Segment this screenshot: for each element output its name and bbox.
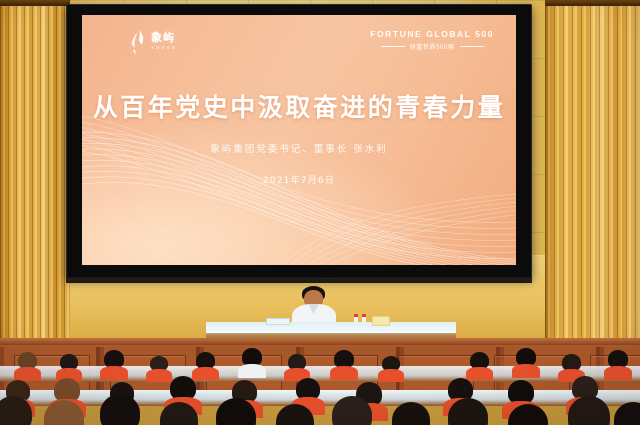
audience-member <box>104 350 124 372</box>
speaker-papers <box>266 318 290 325</box>
audience-member <box>562 354 581 375</box>
audience-desk-row <box>0 366 640 382</box>
slide-title: 从百年党史中汲取奋进的青春力量 <box>82 88 516 124</box>
fortune-badge-chinese: 财富世界500强 <box>410 42 455 51</box>
feather-bird-logo-icon <box>126 29 146 55</box>
audience-member <box>382 356 400 375</box>
audience-member <box>44 400 84 425</box>
left-curtain-rod <box>0 0 70 6</box>
audience-member <box>508 404 548 425</box>
table-cloth <box>206 322 456 333</box>
audience-member <box>392 402 430 425</box>
fortune-global-500-badge: FORTUNE GLOBAL 500 财富世界500强 <box>370 29 494 51</box>
audience-member <box>276 404 314 425</box>
right-curtain-rod <box>545 0 640 6</box>
audience-member <box>448 398 488 425</box>
audience-area <box>0 344 640 425</box>
audience-member <box>60 354 78 374</box>
audience-member <box>470 352 489 373</box>
slide-subtitle-presenter: 象屿集团党委书记、董事长 张水利 <box>82 141 516 155</box>
logo-english-name: XMXYG <box>151 46 177 50</box>
company-logo: 象屿 XMXYG <box>126 29 177 55</box>
conference-hall-photo: 象屿 XMXYG FORTUNE GLOBAL 500 财富世界500强 从百年… <box>0 0 640 425</box>
audience-member <box>296 378 320 406</box>
fortune-badge-english: FORTUNE GLOBAL 500 <box>370 29 494 39</box>
audience-member <box>568 396 610 425</box>
audience-member <box>288 354 306 374</box>
audience-member <box>18 352 37 374</box>
water-bottle <box>362 314 366 324</box>
left-stage-curtain <box>0 0 70 352</box>
audience-member <box>150 356 168 375</box>
audience-member <box>216 398 256 425</box>
slide-date: 2021年7月6日 <box>82 173 516 186</box>
audience-member <box>242 348 262 370</box>
right-stage-curtain <box>545 0 640 352</box>
audience-member <box>100 394 140 425</box>
audience-member <box>0 396 32 425</box>
audience-member <box>516 348 536 370</box>
presentation-slide: 象屿 XMXYG FORTUNE GLOBAL 500 财富世界500强 从百年… <box>82 15 516 265</box>
audience-member <box>160 402 198 425</box>
water-bottle <box>354 314 358 324</box>
document-folder <box>372 316 390 326</box>
audience-member <box>614 402 640 425</box>
audience-member <box>196 352 215 373</box>
audience-member <box>608 350 628 372</box>
fortune-badge-chinese-wrap: 财富世界500强 <box>370 42 494 51</box>
logo-wordmark: 象屿 XMXYG <box>151 33 177 50</box>
audience-member <box>334 350 354 372</box>
ceiling-microphone-icon <box>318 279 332 283</box>
audience-member <box>332 396 372 425</box>
logo-chinese-name: 象屿 <box>151 33 177 44</box>
projection-screen-frame: 象屿 XMXYG FORTUNE GLOBAL 500 财富世界500强 从百年… <box>66 4 532 278</box>
